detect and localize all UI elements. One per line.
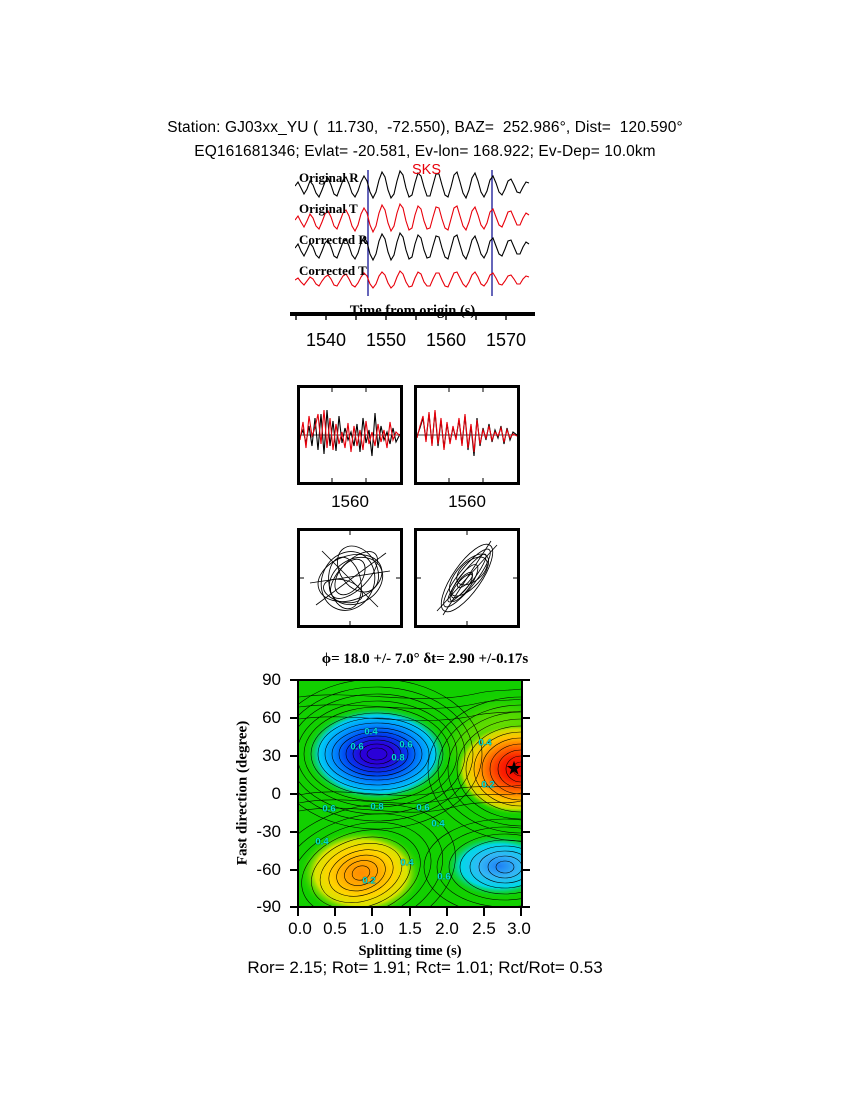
slow-component-trace bbox=[300, 410, 400, 452]
station-info-line: Station: GJ03xx_YU ( 11.730, -72.550), B… bbox=[0, 119, 850, 137]
contour-label: 0.4 bbox=[478, 738, 491, 749]
time-tick-1560: 1560 bbox=[426, 330, 466, 351]
x-tick-3.0: 3.0 bbox=[507, 919, 531, 939]
contour-label: 0.6 bbox=[322, 804, 335, 815]
contour-label: 0.4 bbox=[364, 727, 377, 738]
particle-motion-panel-corrected bbox=[414, 528, 520, 628]
time-tick-1540: 1540 bbox=[306, 330, 346, 351]
contour-label: 0.6 bbox=[350, 742, 363, 753]
waveform-panel-right bbox=[414, 385, 520, 485]
contour-label: 0.2 bbox=[362, 876, 375, 887]
contour-label: 0.8 bbox=[391, 753, 404, 764]
y-tick-0: 0 bbox=[272, 784, 288, 804]
y-tick-neg60: -60 bbox=[256, 860, 288, 880]
waveform-panel-left bbox=[297, 385, 403, 485]
sks-phase-label: SKS bbox=[412, 162, 441, 178]
x-tick-0.0: 0.0 bbox=[288, 919, 312, 939]
contour-label: 0.4 bbox=[431, 819, 444, 830]
y-tick-60: 60 bbox=[262, 708, 288, 728]
time-axis-ticks: 1540 1550 1560 1570 bbox=[290, 330, 535, 352]
event-info-line: EQ161681346; Evlat= -20.581, Ev-lon= 168… bbox=[0, 143, 850, 161]
x-tick-2.5: 2.5 bbox=[472, 919, 496, 939]
figure-canvas: Station: GJ03xx_YU ( 11.730, -72.550), B… bbox=[0, 0, 850, 1100]
wave-panel-left-tick: 1560 bbox=[331, 492, 369, 512]
contour-label: 0.4 bbox=[400, 858, 413, 869]
x-tick-1.0: 1.0 bbox=[360, 919, 384, 939]
x-tick-0.5: 0.5 bbox=[323, 919, 347, 939]
contour-plot-area: 0.4 0.6 0.6 0.8 0.4 0.2 0.8 0.6 0.6 0.4 … bbox=[297, 679, 523, 908]
y-tick-30: 30 bbox=[262, 746, 288, 766]
contour-y-axis-title: Fast direction (degree) bbox=[235, 721, 252, 865]
best-solution-star-marker: ★ bbox=[505, 760, 522, 779]
contour-surface bbox=[299, 681, 521, 906]
time-axis-title: Time from origin (s) bbox=[290, 303, 535, 320]
y-tick-90: 90 bbox=[262, 670, 288, 690]
time-tick-1550: 1550 bbox=[366, 330, 406, 351]
trace-label-corrected-t: Corrected T bbox=[299, 263, 367, 279]
contour-label: 0.8 bbox=[370, 802, 383, 813]
particle-motion-panel-uncorrected bbox=[297, 528, 403, 628]
contour-label: 0.6 bbox=[437, 872, 450, 883]
slow-component-trace-corrected bbox=[417, 410, 517, 452]
trace-label-original-t: Original T bbox=[299, 201, 358, 217]
x-tick-2.0: 2.0 bbox=[435, 919, 459, 939]
quality-statistics-line: Ror= 2.15; Rot= 1.91; Rct= 1.01; Rct/Rot… bbox=[0, 958, 850, 978]
contour-label: 0.2 bbox=[481, 780, 494, 791]
waveform-trace-stack: Original R Original T Corrected R Correc… bbox=[295, 168, 530, 298]
corrected-motion-path bbox=[433, 537, 502, 619]
wave-panel-right-tick: 1560 bbox=[448, 492, 486, 512]
energy-map-contour-plot: 0.4 0.6 0.6 0.8 0.4 0.2 0.8 0.6 0.6 0.4 … bbox=[297, 679, 523, 908]
contour-label: 0.4 bbox=[315, 837, 328, 848]
contour-label: 0.6 bbox=[399, 740, 412, 751]
y-tick-neg30: -30 bbox=[256, 822, 288, 842]
splitting-result-text: ϕ= 18.0 +/- 7.0° δt= 2.90 +/-0.17s bbox=[0, 651, 850, 668]
contour-label: 0.6 bbox=[416, 803, 429, 814]
time-tick-1570: 1570 bbox=[486, 330, 526, 351]
x-tick-1.5: 1.5 bbox=[398, 919, 422, 939]
trace-label-original-r: Original R bbox=[299, 170, 359, 186]
uncorrected-motion-path bbox=[310, 538, 391, 619]
y-tick-neg90: -90 bbox=[256, 897, 288, 917]
trace-label-corrected-r: Corrected R bbox=[299, 232, 368, 248]
